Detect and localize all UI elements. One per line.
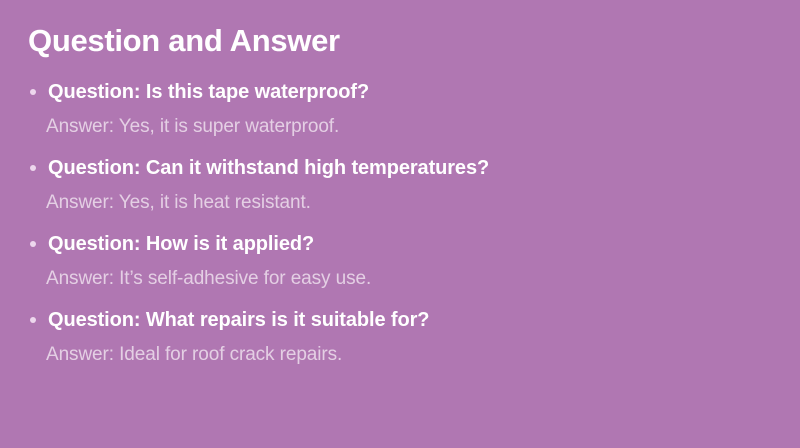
list-item: Question: Is this tape waterproof? Answe… bbox=[28, 78, 772, 140]
page-title: Question and Answer bbox=[28, 22, 772, 60]
list-item: Question: How is it applied? Answer: It’… bbox=[28, 230, 772, 292]
bullet-dot-icon bbox=[30, 89, 36, 95]
bullet-dot-icon bbox=[30, 317, 36, 323]
qa-slide: Question and Answer Question: Is this ta… bbox=[0, 0, 800, 448]
question-text-1: Question: Is this tape waterproof? bbox=[48, 78, 772, 106]
bullet-dot-icon bbox=[30, 165, 36, 171]
answer-text-2: Answer: Yes, it is heat resistant. bbox=[46, 190, 772, 216]
question-row-3: Question: How is it applied? bbox=[28, 230, 772, 258]
question-row-4: Question: What repairs is it suitable fo… bbox=[28, 306, 772, 334]
question-row-2: Question: Can it withstand high temperat… bbox=[28, 154, 772, 182]
qa-list: Question: Is this tape waterproof? Answe… bbox=[28, 78, 772, 368]
answer-text-4: Answer: Ideal for roof crack repairs. bbox=[46, 342, 772, 368]
question-text-2: Question: Can it withstand high temperat… bbox=[48, 154, 772, 182]
list-item: Question: Can it withstand high temperat… bbox=[28, 154, 772, 216]
answer-text-1: Answer: Yes, it is super waterproof. bbox=[46, 114, 772, 140]
answer-text-3: Answer: It’s self-adhesive for easy use. bbox=[46, 266, 772, 292]
list-item: Question: What repairs is it suitable fo… bbox=[28, 306, 772, 368]
question-text-4: Question: What repairs is it suitable fo… bbox=[48, 306, 772, 334]
bullet-dot-icon bbox=[30, 241, 36, 247]
question-text-3: Question: How is it applied? bbox=[48, 230, 772, 258]
question-row-1: Question: Is this tape waterproof? bbox=[28, 78, 772, 106]
